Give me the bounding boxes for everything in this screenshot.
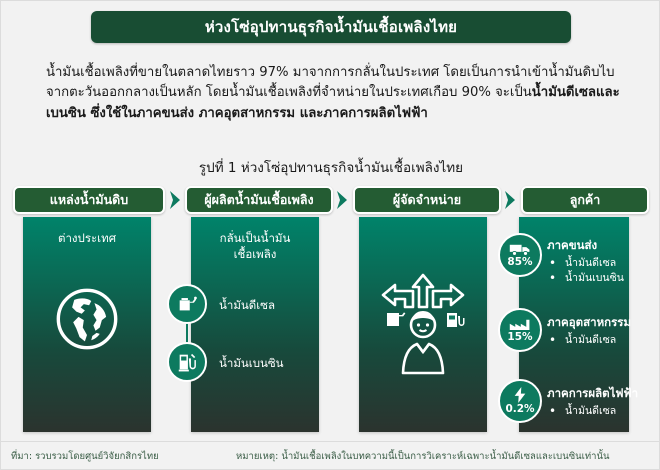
- column-refiner: กลั่นเป็นน้ำมัน เชื้อเพลิง: [191, 217, 319, 432]
- customer-segment-industry: ภาคอุตสาหกรรม น้ำมันดีเซล: [547, 314, 631, 348]
- chevron-right-icon-2: [335, 190, 349, 210]
- source-text: ที่มา: รวบรวมโดยศูนย์วิจัยกสิกรไทย: [11, 449, 159, 464]
- chevron-right-icon-3: [503, 190, 517, 210]
- segment-title: ภาคการผลิตไฟฟ้า: [547, 385, 638, 403]
- flow-header-row: แหล่งน้ำมันดิบ ผู้ผลิตน้ำมันเชื้อเพลิง ผ…: [13, 186, 649, 214]
- segment-item-list: น้ำมันดีเซล: [547, 404, 638, 419]
- flow-header-label: ผู้จัดจำหน่าย: [393, 190, 461, 210]
- list-item: น้ำมันดีเซล: [547, 404, 638, 419]
- lightning-bolt-icon: 0.2%: [498, 379, 542, 423]
- distributor-person-icon: [359, 269, 487, 379]
- segment-item-list: น้ำมันดีเซล น้ำมันเบนซิน: [547, 256, 624, 286]
- oil-can-icon: [167, 284, 207, 324]
- infographic-page: ห่วงโซ่อุปทานธุรกิจน้ำมันเชื้อเพลิงไทย น…: [1, 1, 659, 469]
- segment-title: ภาคอุตสาหกรรม: [547, 314, 631, 332]
- list-item: น้ำมันดีเซล: [547, 333, 631, 348]
- segment-percent: 15%: [507, 332, 532, 343]
- footnote-text: หมายเหตุ: น้ำมันเชื้อเพลิงในบทความนี้เป็…: [236, 449, 609, 464]
- flow-header-refiner[interactable]: ผู้ผลิตน้ำมันเชื้อเพลิง: [185, 186, 333, 214]
- column-crude-source-caption: ต่างประเทศ: [23, 231, 151, 247]
- segment-percent: 85%: [507, 257, 532, 268]
- footer-divider: [1, 441, 660, 442]
- page-title-text: ห่วงโซ่อุปทานธุรกิจน้ำมันเชื้อเพลิงไทย: [205, 15, 457, 39]
- list-item: น้ำมันดีเซล: [547, 256, 624, 271]
- refiner-product-label-gasoline: น้ำมันเบนซิน: [219, 355, 284, 373]
- refiner-product-label-diesel: น้ำมันดีเซล: [219, 297, 275, 315]
- column-refiner-caption: กลั่นเป็นน้ำมัน เชื้อเพลิง: [191, 231, 319, 262]
- fuel-pump-icon: [167, 342, 207, 382]
- customer-segment-power: ภาคการผลิตไฟฟ้า น้ำมันดีเซล: [547, 385, 638, 419]
- flow-header-label: แหล่งน้ำมันดิบ: [50, 190, 128, 210]
- customer-segment-transport: ภาคขนส่ง น้ำมันดีเซล น้ำมันเบนซิน: [547, 237, 624, 286]
- intro-paragraph-normal: น้ำมันเชื้อเพลิงที่ขายในตลาดไทยราว 97% ม…: [46, 65, 614, 100]
- segment-item-list: น้ำมันดีเซล: [547, 333, 631, 348]
- truck-icon: 85%: [498, 233, 542, 277]
- flow-header-customers[interactable]: ลูกค้า: [521, 186, 649, 214]
- flow-header-crude-source[interactable]: แหล่งน้ำมันดิบ: [13, 186, 165, 214]
- list-item: น้ำมันเบนซิน: [547, 271, 624, 286]
- figure-caption: รูปที่ 1 ห่วงโซ่อุปทานธุรกิจน้ำมันเชื้อเ…: [1, 156, 660, 178]
- intro-paragraph: น้ำมันเชื้อเพลิงที่ขายในตลาดไทยราว 97% ม…: [46, 63, 626, 124]
- flow-header-label: ผู้ผลิตน้ำมันเชื้อเพลิง: [204, 190, 313, 210]
- chevron-right-icon-1: [168, 190, 182, 210]
- factory-icon: 15%: [498, 308, 542, 352]
- segment-percent: 0.2%: [505, 404, 534, 415]
- flow-header-label: ลูกค้า: [570, 190, 601, 210]
- column-crude-source: ต่างประเทศ: [23, 217, 151, 432]
- page-title: ห่วงโซ่อุปทานธุรกิจน้ำมันเชื้อเพลิงไทย: [91, 11, 571, 43]
- globe-icon: [23, 285, 151, 353]
- segment-title: ภาคขนส่ง: [547, 237, 624, 255]
- flow-header-distributor[interactable]: ผู้จัดจำหน่าย: [353, 186, 501, 214]
- column-distributor: [359, 217, 487, 432]
